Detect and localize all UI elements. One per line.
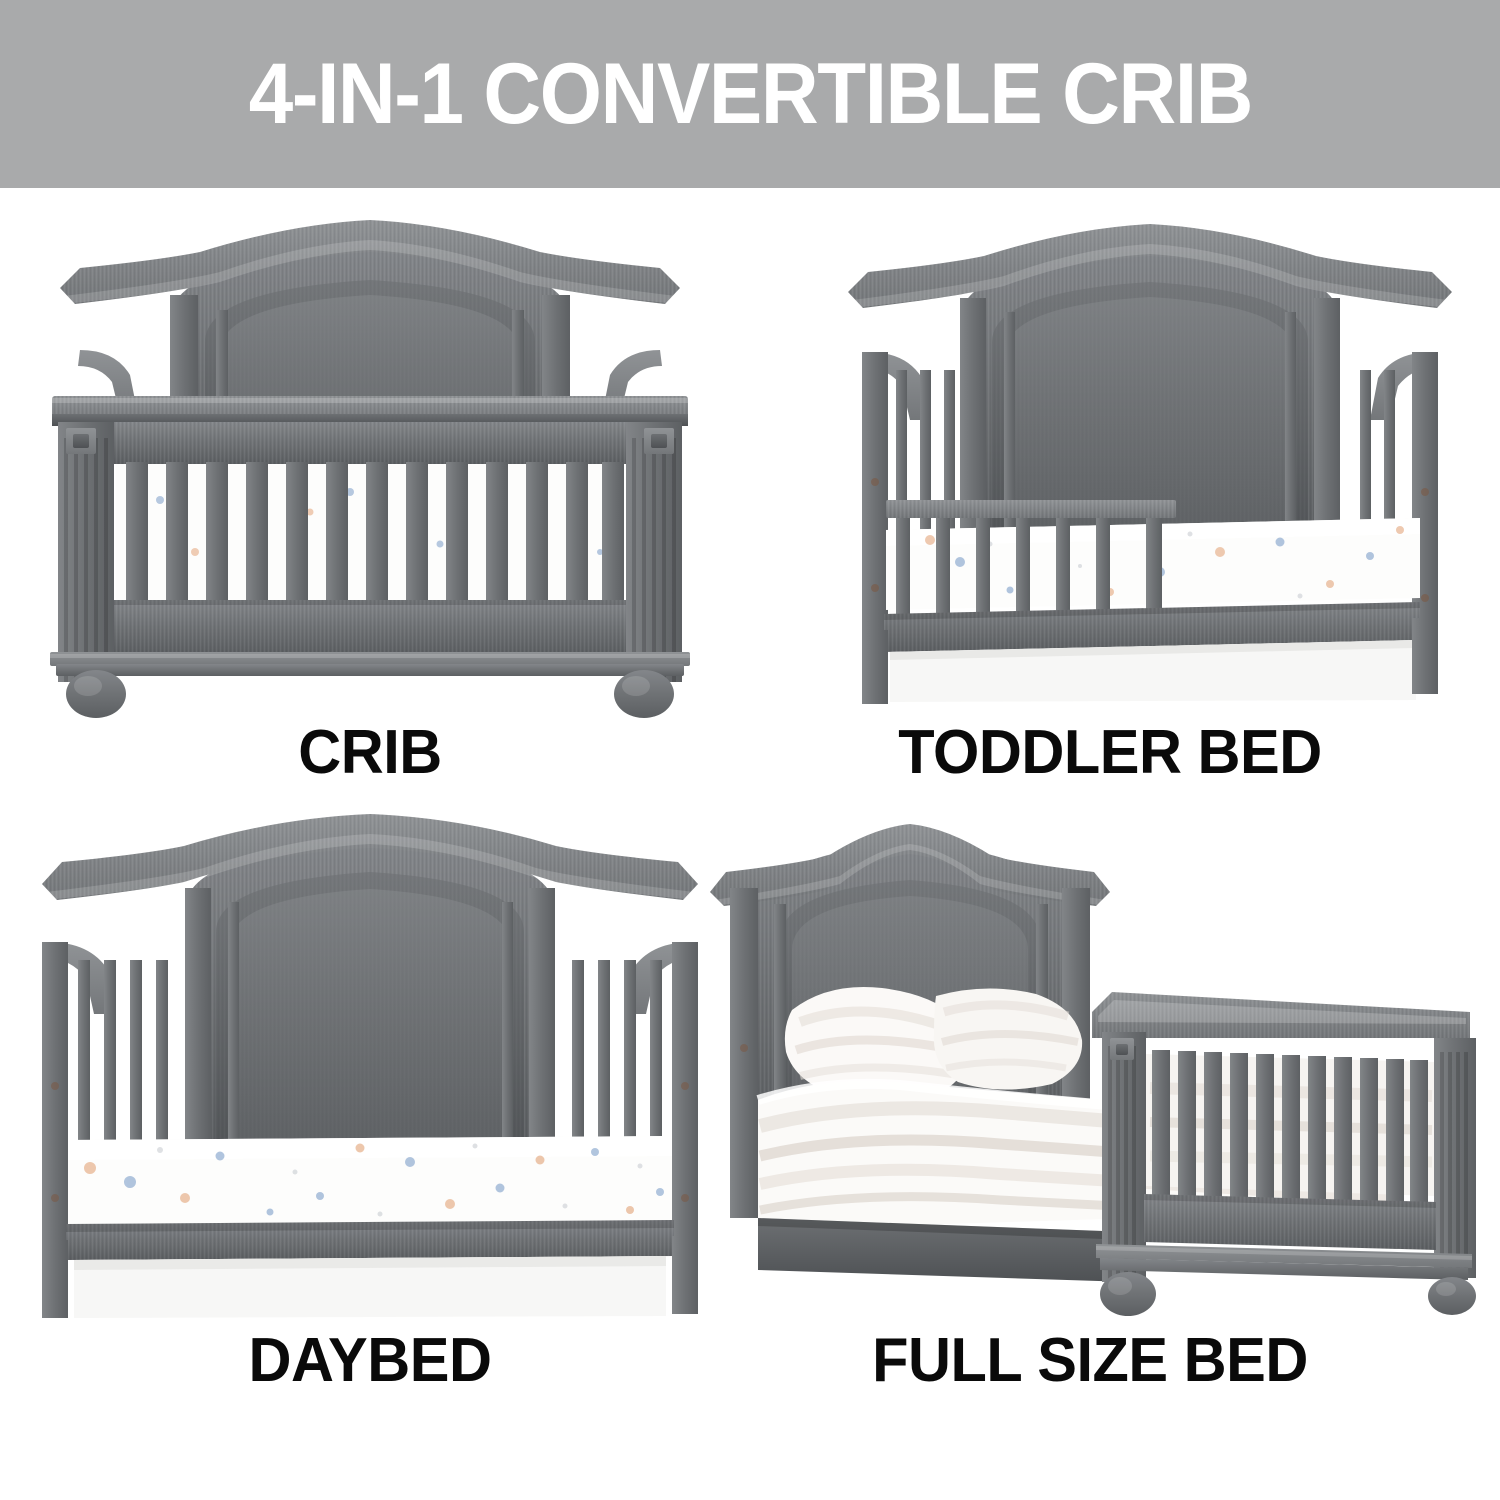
full-size-bed-svg [700,800,1480,1330]
toddler-bed-svg [760,200,1460,720]
crib-illustration [20,200,720,780]
infographic-page: 4-IN-1 CONVERTIBLE CRIB [0,0,1500,1500]
label-toddler-bed: TODDLER BED [774,722,1446,784]
label-full-size-bed: FULL SIZE BED [716,1330,1465,1392]
daybed-illustration [20,800,720,1400]
crib-svg [20,200,720,720]
daybed-svg [20,800,720,1330]
header-banner: 4-IN-1 CONVERTIBLE CRIB [0,0,1500,188]
product-panel-toddler-bed: TODDLER BED [760,200,1460,780]
page-title: 4-IN-1 CONVERTIBLE CRIB [248,51,1251,137]
product-panel-full-size-bed: FULL SIZE BED [700,800,1480,1400]
label-crib: CRIB [34,722,706,784]
product-panel-crib: CRIB [20,200,720,780]
product-panel-daybed: DAYBED [20,800,720,1400]
label-daybed: DAYBED [34,1330,706,1392]
toddler-bed-illustration [760,200,1460,780]
full-size-bed-illustration [700,800,1480,1400]
